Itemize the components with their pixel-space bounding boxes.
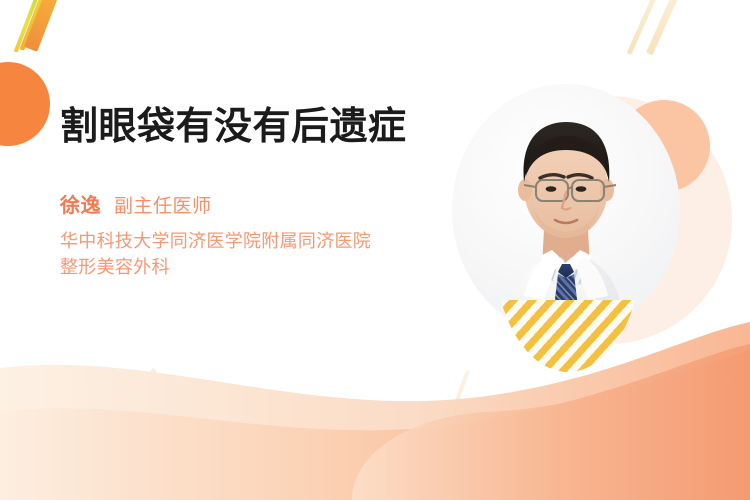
stripe-bottom-left-icon <box>138 368 156 407</box>
stripe-top-left-thin-icon <box>14 0 42 53</box>
stripe-top-right-b-icon <box>646 0 687 55</box>
bottom-wave-decor <box>0 320 750 500</box>
stripe-top-left-mid-icon <box>19 0 50 51</box>
doctor-affiliation: 华中科技大学同济医学院附属同济医院 整形美容外科 <box>60 228 460 280</box>
doctor-rank: 副主任医师 <box>114 191 212 218</box>
doctor-photo <box>452 84 680 336</box>
doctor-byline: 徐逸 副主任医师 <box>60 189 460 218</box>
affiliation-line-1: 华中科技大学同济医学院附属同济医院 <box>60 228 460 254</box>
doctor-name: 徐逸 <box>60 189 101 218</box>
doctor-info-card: 割眼袋有没有后遗症 徐逸 副主任医师 华中科技大学同济医学院附属同济医院 整形美… <box>0 0 750 500</box>
orange-circle-decor <box>0 62 50 146</box>
page-title: 割眼袋有没有后遗症 <box>60 104 410 151</box>
stripe-top-left-thick-icon <box>24 0 65 52</box>
affiliation-line-2: 整形美容外科 <box>60 254 460 280</box>
stripe-top-right-a-icon <box>627 0 665 55</box>
text-content: 割眼袋有没有后遗症 徐逸 副主任医师 华中科技大学同济医学院附属同济医院 整形美… <box>60 104 460 280</box>
stripe-mid-bottom-icon <box>454 370 469 403</box>
doctor-portrait-illustration <box>452 84 680 336</box>
